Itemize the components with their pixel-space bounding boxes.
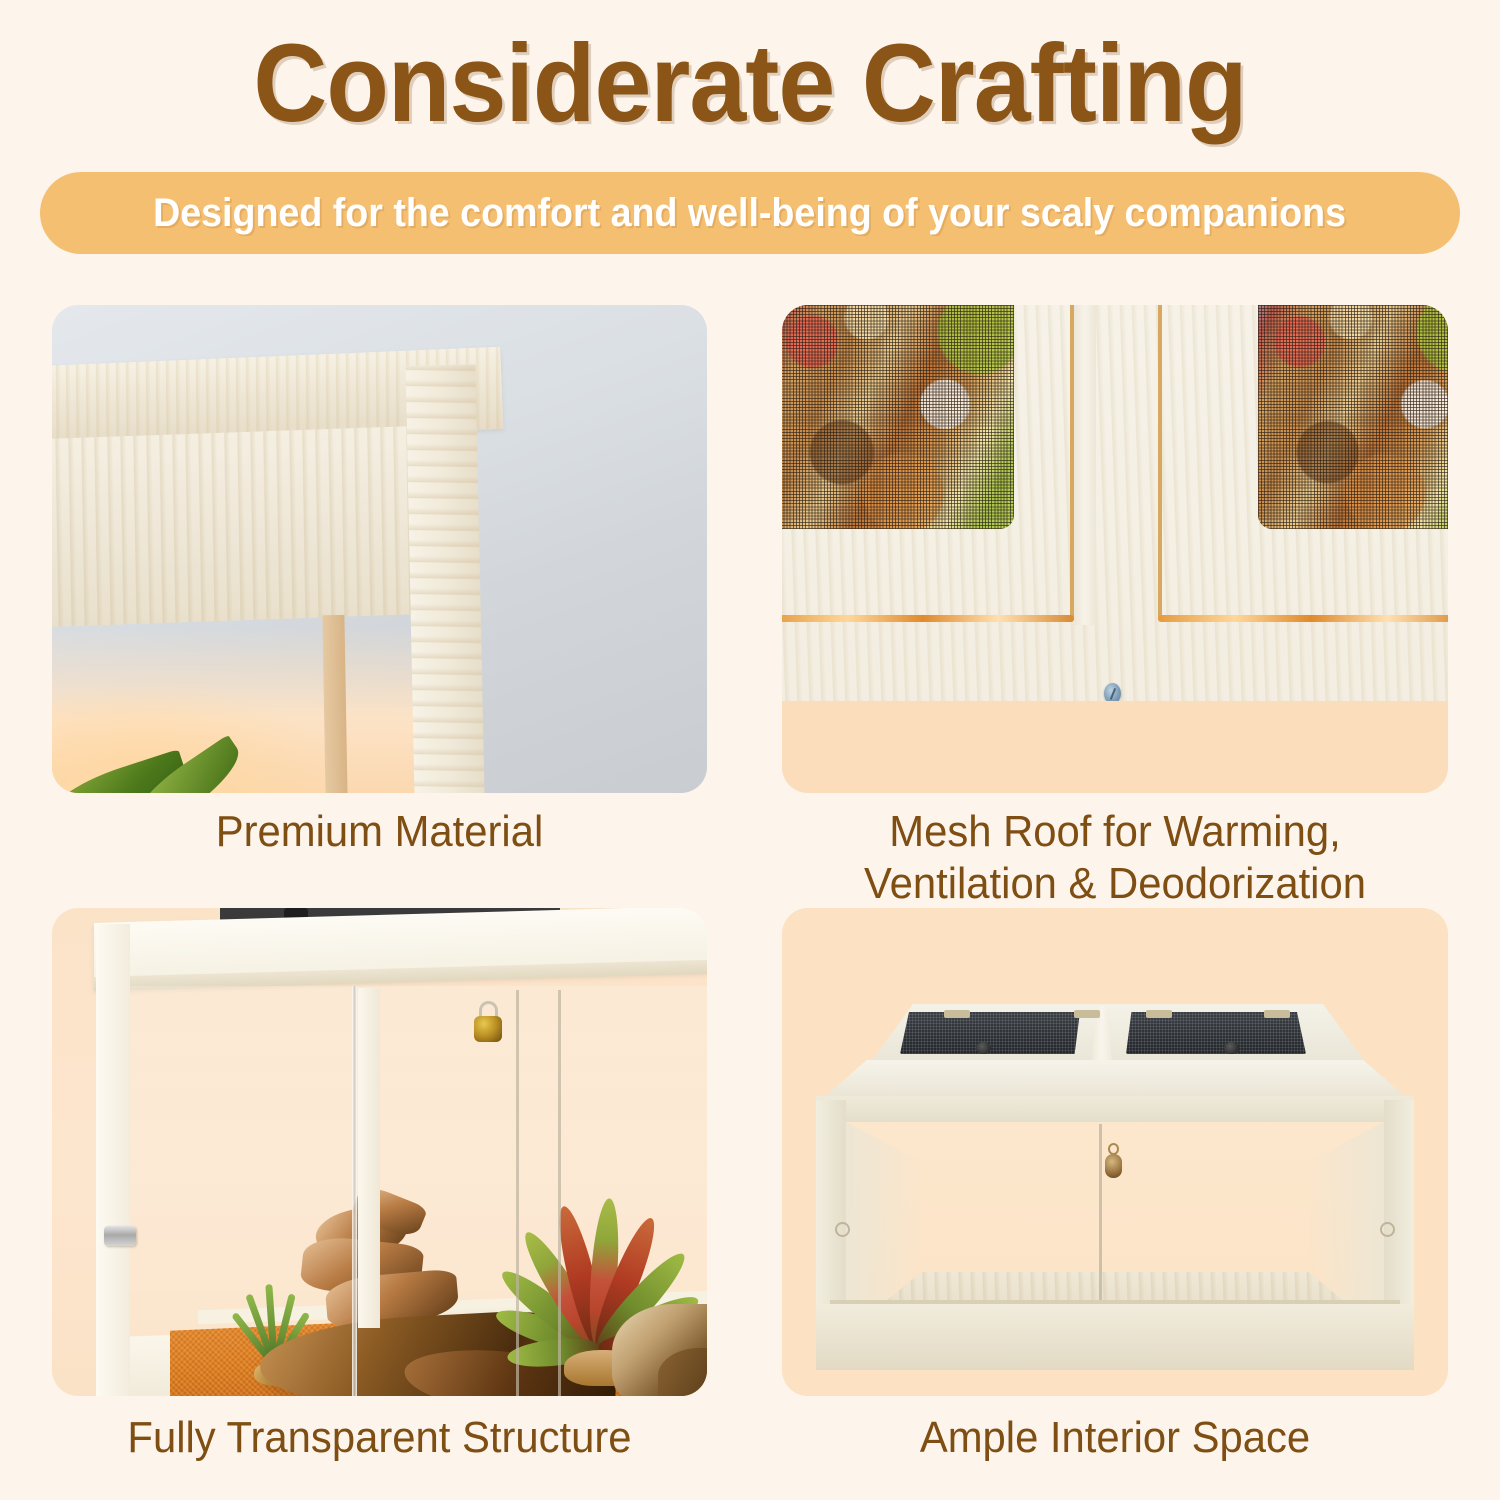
infographic-page: Considerate Crafting Designed for the co… xyxy=(0,0,1500,1500)
panel-premium-material xyxy=(52,305,707,793)
glass-door-seam xyxy=(1099,1124,1102,1308)
panel-ample-interior-space xyxy=(782,908,1448,1396)
subtitle-banner: Designed for the comfort and well-being … xyxy=(40,172,1460,254)
caption-ample-interior-space: Ample Interior Space xyxy=(799,1412,1432,1464)
wood-front-panel xyxy=(52,426,425,628)
panel-mesh-roof xyxy=(782,305,1448,793)
glass-door-divider xyxy=(558,990,561,1396)
caption-fully-transparent-structure: Fully Transparent Structure xyxy=(68,1412,690,1464)
glass-door-divider xyxy=(516,990,519,1396)
frame-seam-vertical xyxy=(1158,305,1162,617)
side-vent-hole-icon xyxy=(835,1222,850,1237)
roof-vent-knob-icon xyxy=(976,1042,991,1054)
side-vent-hole-icon xyxy=(1380,1222,1395,1237)
subtitle-text: Designed for the comfort and well-being … xyxy=(154,191,1347,236)
left-frame-post xyxy=(96,924,130,1396)
peach-bottom-band xyxy=(782,701,1448,793)
wood-decor-cluster xyxy=(296,1208,472,1328)
caption-line-2: Ventilation & Deodorization xyxy=(787,858,1443,910)
roof-mesh-panel-right xyxy=(1126,1012,1306,1054)
frame-seam-horizontal xyxy=(782,615,1074,622)
glass-door-divider xyxy=(352,986,357,1396)
roof-hinge-icon xyxy=(1146,1010,1172,1018)
frame-seam-horizontal xyxy=(1158,615,1448,622)
roof-vent-knob-icon xyxy=(1224,1042,1239,1054)
page-title: Considerate Crafting xyxy=(53,28,1448,140)
panel-fully-transparent-structure xyxy=(52,908,707,1396)
left-frame-post xyxy=(816,1100,846,1328)
caption-premium-material: Premium Material xyxy=(68,806,690,858)
roof-hinge-icon xyxy=(944,1010,970,1018)
center-wood-divider xyxy=(1074,305,1096,625)
wood-vertical-stile xyxy=(406,364,485,793)
roof-hinge-icon xyxy=(1264,1010,1290,1018)
door-knob[interactable] xyxy=(104,1226,136,1246)
door-mullion xyxy=(358,988,380,1328)
base-frame xyxy=(816,1304,1414,1370)
wood-inner-post xyxy=(322,615,347,793)
roof-hinge-icon xyxy=(1074,1010,1100,1018)
frame-seam-vertical xyxy=(1070,305,1074,617)
caption-line-1: Mesh Roof for Warming, xyxy=(787,806,1443,858)
top-frame-rail-lower xyxy=(816,1096,1414,1122)
right-frame-post xyxy=(1384,1100,1414,1328)
caption-mesh-roof: Mesh Roof for Warming, Ventilation & Deo… xyxy=(787,806,1443,910)
padlock-icon xyxy=(474,1016,502,1042)
mesh-screen-left xyxy=(782,305,1014,529)
terrarium-product xyxy=(816,1004,1414,1334)
door-latch-icon[interactable] xyxy=(1105,1154,1122,1178)
mesh-screen-right xyxy=(1258,305,1448,529)
